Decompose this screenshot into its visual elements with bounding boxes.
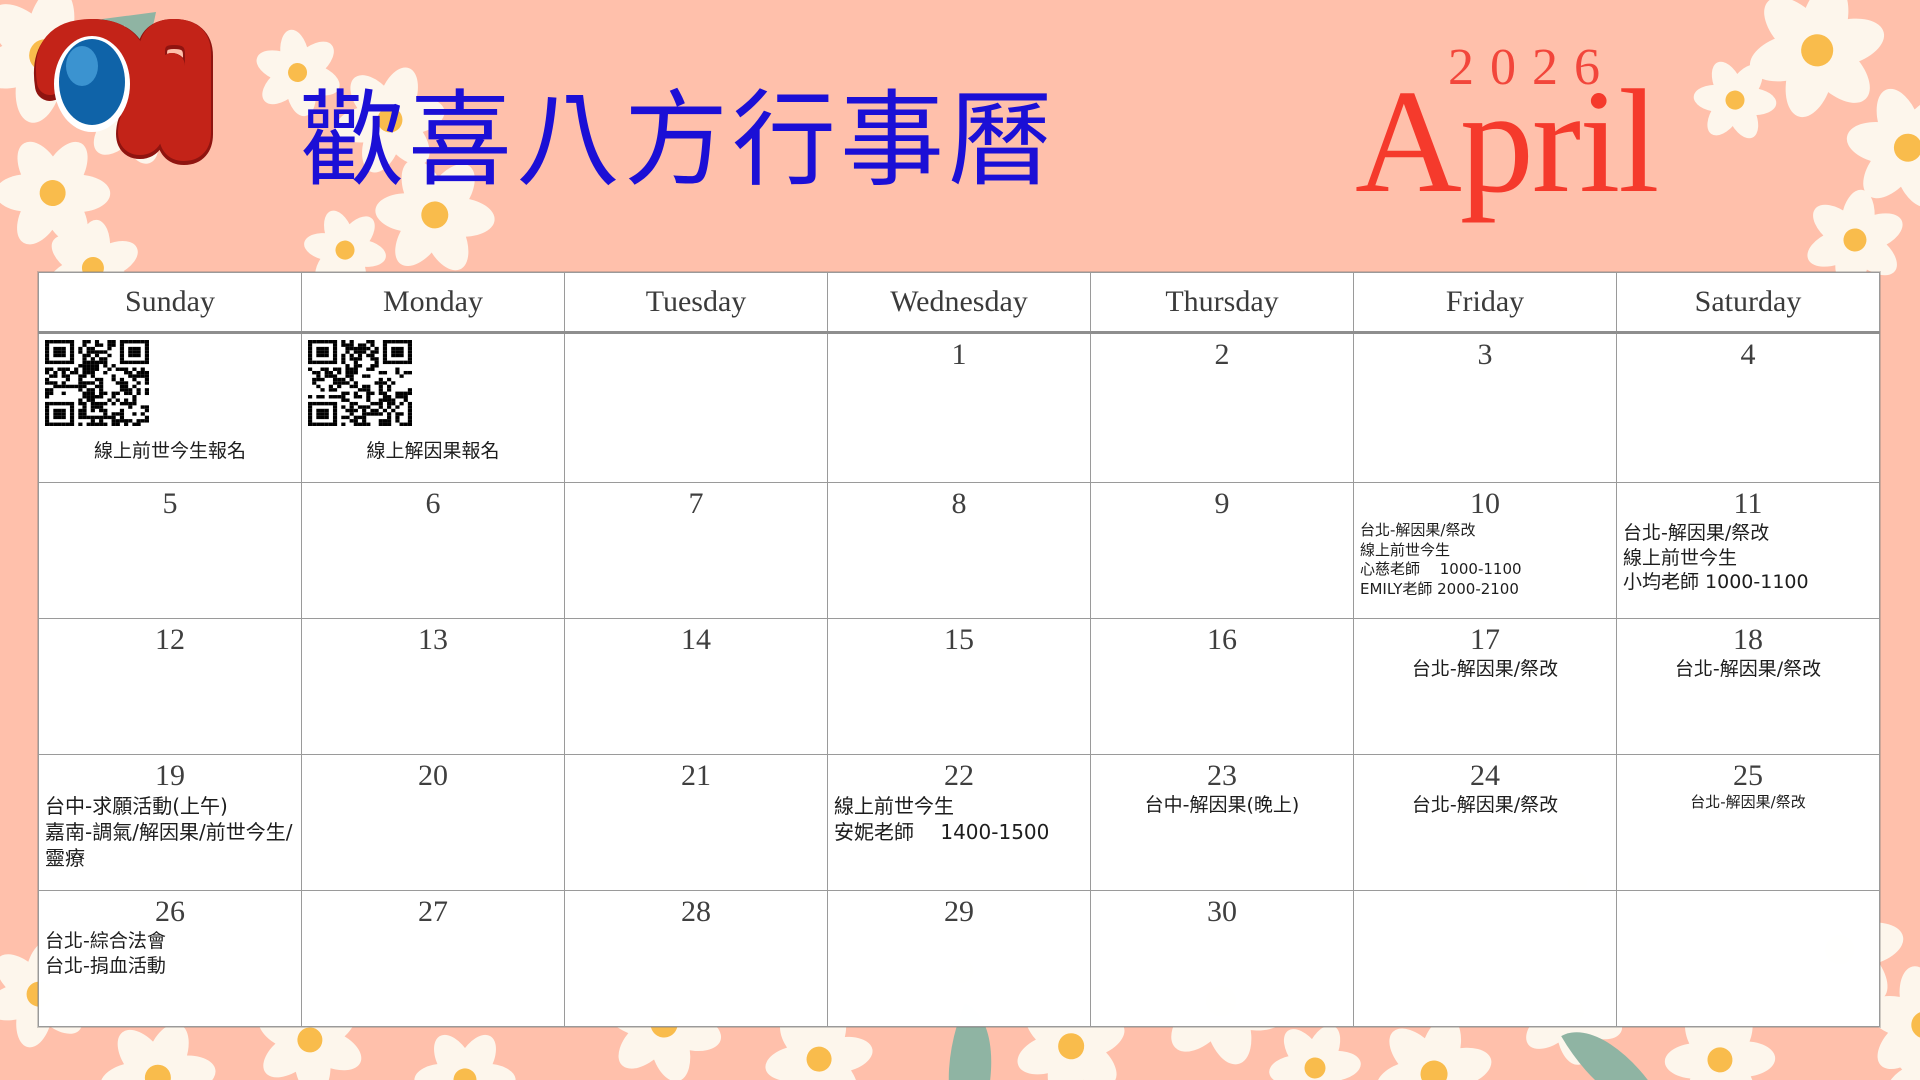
qr-code-icon[interactable] xyxy=(39,334,301,426)
calendar-cell-day-21[interactable]: 21 xyxy=(565,755,828,891)
calendar-cell-day-30[interactable]: 30 xyxy=(1091,891,1354,1027)
calendar-cell-day-26[interactable]: 26台北-綜合法會台北-捐血活動 xyxy=(39,891,302,1027)
calendar-cell-day-3[interactable]: 3 xyxy=(1354,333,1617,483)
event-entry: 台北-解因果/祭改 xyxy=(1360,521,1610,541)
calendar-cell-day-9[interactable]: 9 xyxy=(1091,483,1354,619)
day-number: 6 xyxy=(302,483,564,520)
day-number: 18 xyxy=(1617,619,1879,656)
qr-code-icon[interactable] xyxy=(302,334,564,426)
day-events: 線上前世今生安妮老師 1400-1500 xyxy=(828,792,1090,849)
calendar-cell-day-15[interactable]: 15 xyxy=(828,619,1091,755)
event-entry: 心慈老師 1000-1100 xyxy=(1360,560,1610,580)
event-entry: 台北-綜合法會 xyxy=(45,929,295,954)
day-number: 11 xyxy=(1617,483,1879,520)
day-number: 22 xyxy=(828,755,1090,792)
day-number: 8 xyxy=(828,483,1090,520)
calendar-cell-day-28[interactable]: 28 xyxy=(565,891,828,1027)
day-number: 19 xyxy=(39,755,301,792)
event-entry: 台中-解因果(晚上) xyxy=(1097,793,1347,818)
calendar-cell-day-11[interactable]: 11台北-解因果/祭改線上前世今生小均老師 1000-1100 xyxy=(1617,483,1880,619)
calendar-cell-day-1[interactable]: 1 xyxy=(828,333,1091,483)
calendar-cell-empty xyxy=(565,333,828,483)
event-entry: EMILY老師 2000-2100 xyxy=(1360,580,1610,600)
day-events: 台北-解因果/祭改 xyxy=(1354,656,1616,686)
day-number: 16 xyxy=(1091,619,1353,656)
day-number: 21 xyxy=(565,755,827,792)
calendar-cell-day-4[interactable]: 4 xyxy=(1617,333,1880,483)
day-number: 9 xyxy=(1091,483,1353,520)
calendar-cell-empty xyxy=(1354,891,1617,1027)
daisy-flower-icon xyxy=(1875,1015,1920,1080)
event-entry: 嘉南-調氣/解因果/前世今生/靈療 xyxy=(45,819,295,871)
day-events: 台中-解因果(晚上) xyxy=(1091,792,1353,822)
qr-code-caption: 線上前世今生報名 xyxy=(39,426,301,463)
calendar-week-row: 5678910台北-解因果/祭改線上前世今生心慈老師 1000-1100EMIL… xyxy=(39,483,1880,619)
calendar-cell-empty xyxy=(1617,891,1880,1027)
day-number: 27 xyxy=(302,891,564,928)
calendar-cell-day-24[interactable]: 24台北-解因果/祭改 xyxy=(1354,755,1617,891)
calendar-cell-day-18[interactable]: 18台北-解因果/祭改 xyxy=(1617,619,1880,755)
day-number xyxy=(1617,891,1879,895)
calendar-cell-day-14[interactable]: 14 xyxy=(565,619,828,755)
day-number: 4 xyxy=(1617,334,1879,371)
calendar-cell-day-16[interactable]: 16 xyxy=(1091,619,1354,755)
day-number: 10 xyxy=(1354,483,1616,520)
event-entry: 台中-求願活動(上午) xyxy=(45,793,295,819)
organization-logo xyxy=(28,8,238,208)
day-events: 台中-求願活動(上午)嘉南-調氣/解因果/前世今生/靈療 xyxy=(39,792,301,875)
event-entry: 線上前世今生 xyxy=(834,793,1084,819)
day-number: 28 xyxy=(565,891,827,928)
calendar-cell-day-8[interactable]: 8 xyxy=(828,483,1091,619)
qr-code-caption: 線上解因果報名 xyxy=(302,426,564,463)
calendar-table: SundayMondayTuesdayWednesdayThursdayFrid… xyxy=(38,272,1880,1027)
day-events: 台北-綜合法會台北-捐血活動 xyxy=(39,928,301,982)
day-events: 台北-解因果/祭改 xyxy=(1617,656,1879,686)
calendar-cell-day-22[interactable]: 22線上前世今生安妮老師 1400-1500 xyxy=(828,755,1091,891)
event-entry: 線上前世今生 xyxy=(1623,546,1873,571)
day-events: 台北-解因果/祭改線上前世今生小均老師 1000-1100 xyxy=(1617,520,1879,599)
day-number: 29 xyxy=(828,891,1090,928)
calendar-cell-day-23[interactable]: 23台中-解因果(晚上) xyxy=(1091,755,1354,891)
calendar-week-row: 19台中-求願活動(上午)嘉南-調氣/解因果/前世今生/靈療202122線上前世… xyxy=(39,755,1880,891)
day-number: 13 xyxy=(302,619,564,656)
day-events: 台北-解因果/祭改 xyxy=(1354,792,1616,822)
day-number: 30 xyxy=(1091,891,1353,928)
day-events: 台北-解因果/祭改 xyxy=(1617,792,1879,817)
weekday-header-thursday: Thursday xyxy=(1091,273,1354,333)
day-number: 23 xyxy=(1091,755,1353,792)
calendar-cell-day-5[interactable]: 5 xyxy=(39,483,302,619)
calendar-cell-day-29[interactable]: 29 xyxy=(828,891,1091,1027)
calendar-cell-day-20[interactable]: 20 xyxy=(302,755,565,891)
calendar-cell-day-25[interactable]: 25台北-解因果/祭改 xyxy=(1617,755,1880,891)
day-number: 3 xyxy=(1354,334,1616,371)
calendar-poster: 歡喜八方行事曆 2026 April SundayMondayTuesdayWe… xyxy=(0,0,1920,1080)
day-number xyxy=(565,334,827,338)
calendar-cell-day-12[interactable]: 12 xyxy=(39,619,302,755)
calendar-cell-empty[interactable]: 線上前世今生報名 xyxy=(39,333,302,483)
day-number: 26 xyxy=(39,891,301,928)
event-entry: 台北-解因果/祭改 xyxy=(1360,657,1610,682)
calendar-cell-day-2[interactable]: 2 xyxy=(1091,333,1354,483)
weekday-header-tuesday: Tuesday xyxy=(565,273,828,333)
day-number: 5 xyxy=(39,483,301,520)
weekday-header-saturday: Saturday xyxy=(1617,273,1880,333)
day-number xyxy=(1354,891,1616,895)
day-number: 12 xyxy=(39,619,301,656)
weekday-header-sunday: Sunday xyxy=(39,273,302,333)
event-entry: 台北-解因果/祭改 xyxy=(1623,657,1873,682)
poster-header: 歡喜八方行事曆 2026 April xyxy=(0,0,1920,268)
day-number: 7 xyxy=(565,483,827,520)
calendar-cell-day-7[interactable]: 7 xyxy=(565,483,828,619)
event-entry: 台北-解因果/祭改 xyxy=(1360,793,1610,818)
weekday-header-monday: Monday xyxy=(302,273,565,333)
event-entry: 線上前世今生 xyxy=(1360,541,1610,561)
calendar-week-row: 121314151617台北-解因果/祭改18台北-解因果/祭改 xyxy=(39,619,1880,755)
day-number: 1 xyxy=(828,334,1090,371)
event-entry: 安妮老師 1400-1500 xyxy=(834,819,1084,845)
month-label: April xyxy=(1355,68,1657,216)
calendar-week-row: 26台北-綜合法會台北-捐血活動27282930 xyxy=(39,891,1880,1027)
day-number: 17 xyxy=(1354,619,1616,656)
day-number: 20 xyxy=(302,755,564,792)
day-events: 台北-解因果/祭改線上前世今生心慈老師 1000-1100EMILY老師 200… xyxy=(1354,520,1616,603)
event-entry: 小均老師 1000-1100 xyxy=(1623,570,1873,595)
calendar-header-row: SundayMondayTuesdayWednesdayThursdayFrid… xyxy=(39,273,1880,333)
calendar-cell-day-10[interactable]: 10台北-解因果/祭改線上前世今生心慈老師 1000-1100EMILY老師 2… xyxy=(1354,483,1617,619)
calendar-body: 線上前世今生報名線上解因果報名12345678910台北-解因果/祭改線上前世今… xyxy=(39,333,1880,1027)
calendar-cell-day-17[interactable]: 17台北-解因果/祭改 xyxy=(1354,619,1617,755)
day-number: 2 xyxy=(1091,334,1353,371)
calendar-week-row: 線上前世今生報名線上解因果報名1234 xyxy=(39,333,1880,483)
page-title: 歡喜八方行事曆 xyxy=(300,88,1056,192)
calendar-cell-day-27[interactable]: 27 xyxy=(302,891,565,1027)
day-number: 24 xyxy=(1354,755,1616,792)
event-entry: 台北-解因果/祭改 xyxy=(1623,521,1873,546)
day-number: 14 xyxy=(565,619,827,656)
day-number: 25 xyxy=(1617,755,1879,792)
weekday-header-friday: Friday xyxy=(1354,273,1617,333)
day-number: 15 xyxy=(828,619,1090,656)
calendar-cell-empty[interactable]: 線上解因果報名 xyxy=(302,333,565,483)
calendar-cell-day-6[interactable]: 6 xyxy=(302,483,565,619)
calendar-cell-day-19[interactable]: 19台中-求願活動(上午)嘉南-調氣/解因果/前世今生/靈療 xyxy=(39,755,302,891)
calendar-cell-day-13[interactable]: 13 xyxy=(302,619,565,755)
event-entry: 台北-捐血活動 xyxy=(45,954,295,979)
event-entry: 台北-解因果/祭改 xyxy=(1623,793,1873,813)
weekday-header-wednesday: Wednesday xyxy=(828,273,1091,333)
